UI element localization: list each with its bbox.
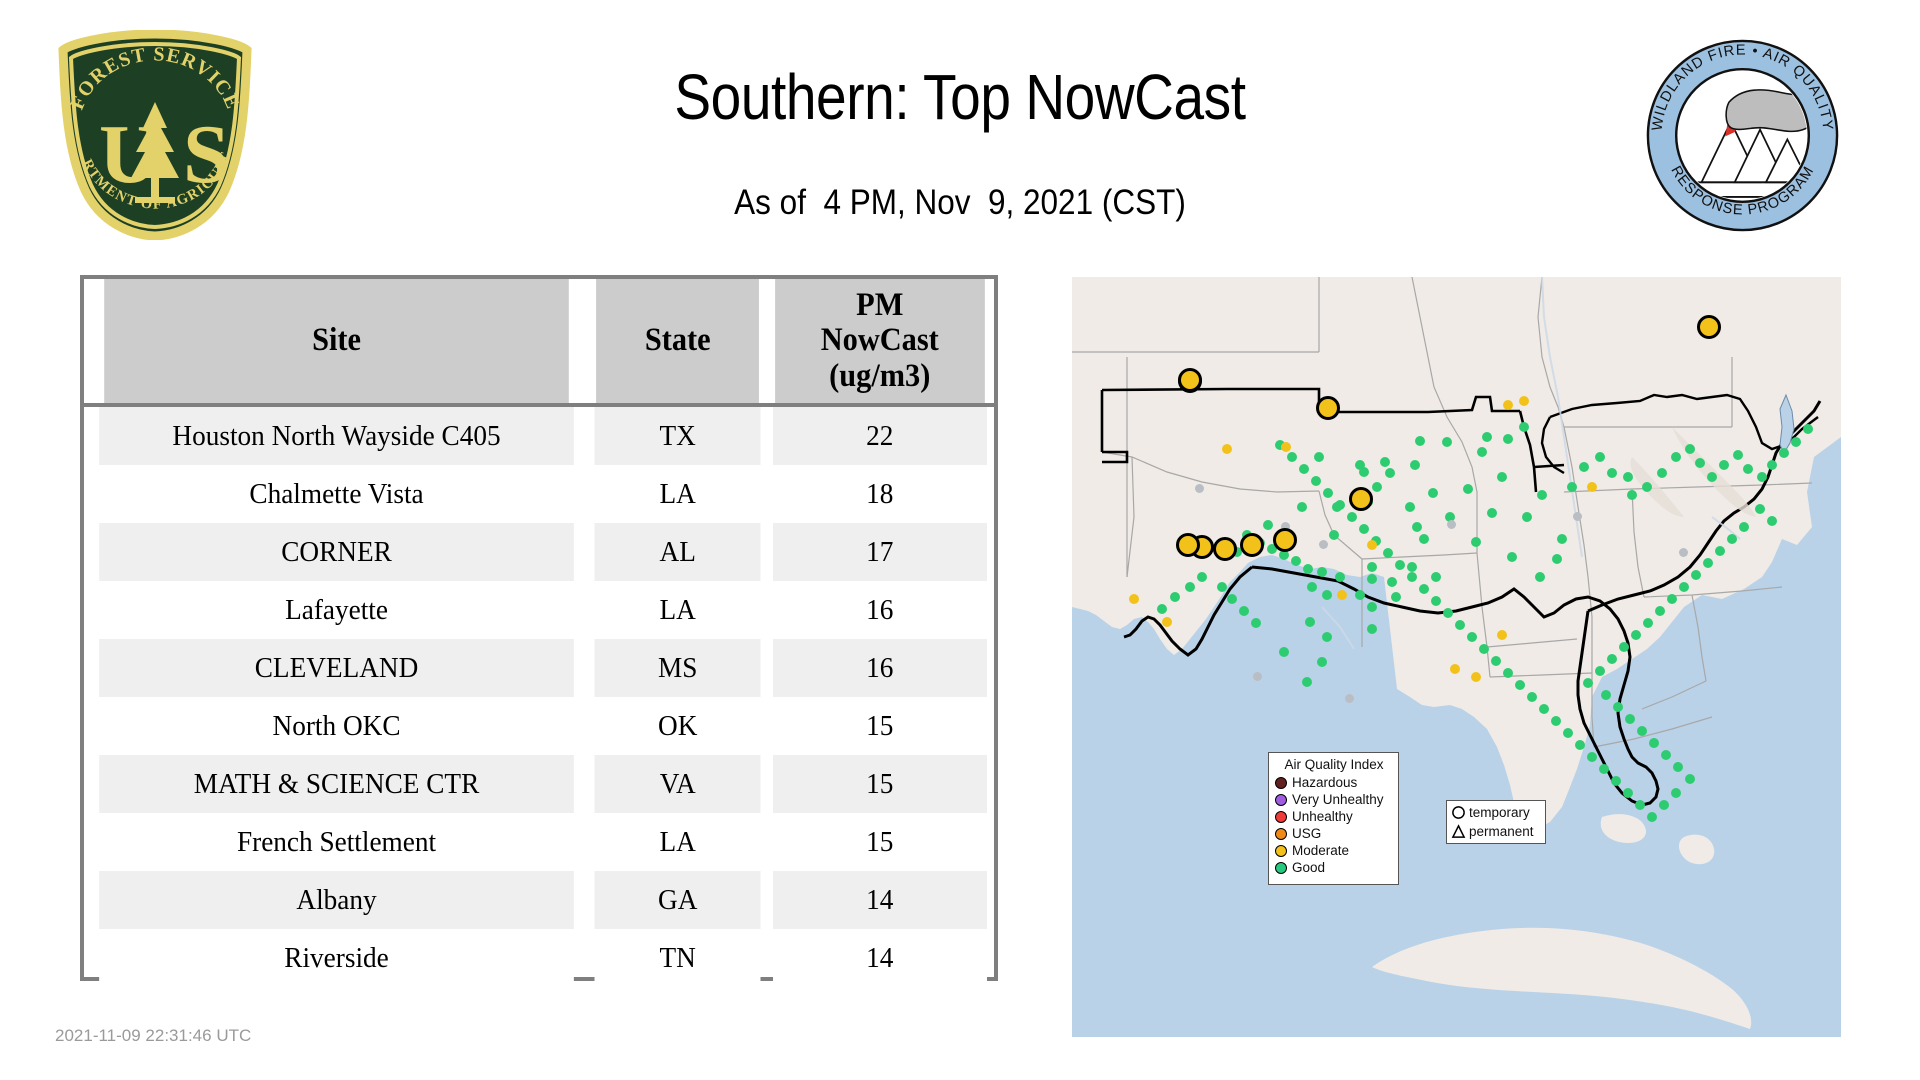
monitor-dot-good [1637,726,1647,736]
monitor-dot-good [1372,482,1382,492]
monitor-dot-good [1405,502,1415,512]
site-cell: Chalmette Vista [99,465,574,523]
monitor-dot-unavailable [1195,484,1204,493]
top-site-marker[interactable] [1240,533,1264,557]
monitor-dot-good [1719,460,1729,470]
monitor-dot-good [1367,562,1377,572]
aqi-legend-row: Moderate [1275,842,1393,859]
top-site-marker[interactable] [1176,533,1200,557]
monitor-dot-good [1642,482,1652,492]
monitor-dot-unavailable [1319,540,1328,549]
monitor-dot-good [1329,530,1339,540]
site-cell: Riverside [99,929,574,987]
monitor-dot-good [1279,647,1289,657]
monitor-dot-good [1322,632,1332,642]
monitor-dot-good [1623,788,1633,798]
pm-nowcast-cell: 14 [773,929,987,987]
monitor-dot-good [1595,666,1605,676]
state-cell: MS [594,639,761,697]
site-cell: MATH & SCIENCE CTR [99,755,574,813]
monitor-dot-good [1157,604,1167,614]
table-row[interactable]: French SettlementLA15 [84,813,994,871]
pm-nowcast-cell: 18 [773,465,987,523]
monitor-dot-moderate [1367,540,1377,550]
aqi-swatch-icon [1275,811,1287,823]
monitor-dot-moderate [1450,664,1460,674]
monitor-dot-moderate [1162,617,1172,627]
monitor-dot-good [1367,624,1377,634]
state-cell: LA [594,581,761,639]
monitor-dot-moderate [1503,400,1513,410]
monitor-dot-good [1552,554,1562,564]
monitor-dot-good [1442,437,1452,447]
monitor-dot-good [1419,584,1429,594]
monitor-dot-good [1428,488,1438,498]
monitor-dot-good [1707,472,1717,482]
table-body: Houston North Wayside C405TX22Chalmette … [84,405,994,987]
monitor-dot-good [1317,567,1327,577]
site-type-permanent-label: permanent [1469,824,1534,839]
monitor-dot-good [1599,764,1609,774]
monitor-dot-good [1227,594,1237,604]
monitor-dot-good [1479,644,1489,654]
monitor-dot-unavailable [1573,512,1582,521]
site-cell: CLEVELAND [99,639,574,697]
state-cell: LA [594,813,761,871]
site-cell: Albany [99,871,574,929]
monitor-dot-good [1431,572,1441,582]
monitor-dot-good [1695,458,1705,468]
monitor-dot-good [1359,524,1369,534]
site-cell: CORNER [99,523,574,581]
monitor-dot-good [1307,582,1317,592]
top-site-marker[interactable] [1178,368,1202,392]
monitor-dot-good [1503,434,1513,444]
monitor-dot-good [1703,558,1713,568]
monitor-dot-good [1685,774,1695,784]
pm-nowcast-cell: 15 [773,755,987,813]
monitor-dot-good [1643,618,1653,628]
aqi-legend-label: Unhealthy [1292,810,1353,824]
monitor-dot-good [1407,562,1417,572]
monitor-dot-good [1443,608,1453,618]
monitor-dot-good [1471,537,1481,547]
monitor-dot-good [1291,556,1301,566]
state-cell: LA [594,465,761,523]
pm-nowcast-cell: 22 [773,405,987,465]
monitor-dot-good [1482,432,1492,442]
monitor-dot-good [1755,504,1765,514]
monitor-dot-good [1715,546,1725,556]
monitor-dot-moderate [1129,594,1139,604]
monitor-dot-good [1661,750,1671,760]
monitor-dot-good [1611,776,1621,786]
monitor-dot-good [1263,520,1273,530]
monitor-dot-good [1302,677,1312,687]
monitor-dot-good [1322,590,1332,600]
site-cell: Lafayette [99,581,574,639]
monitor-dot-good [1659,800,1669,810]
monitor-dot-good [1679,582,1689,592]
monitor-dot-good [1314,452,1324,462]
column-header-site[interactable]: Site [104,279,569,405]
monitor-dot-good [1647,812,1657,822]
monitor-dot-good [1657,468,1667,478]
monitor-dot-good [1385,468,1395,478]
state-cell: AL [594,523,761,581]
monitor-dot-good [1507,552,1517,562]
monitor-dot-good [1727,534,1737,544]
monitor-dot-good [1733,450,1743,460]
pm-nowcast-cell: 17 [773,523,987,581]
monitor-dot-good [1380,457,1390,467]
monitor-dot-good [1431,596,1441,606]
pm-nowcast-cell: 15 [773,813,987,871]
column-header-pm-nowcast[interactable]: PM NowCast (ug/m3) [776,279,985,405]
monitor-dot-good [1463,484,1473,494]
aqi-swatch-icon [1275,862,1287,874]
air-quality-map[interactable] [1072,277,1841,1037]
monitor-dot-unavailable [1345,694,1354,703]
site-type-permanent-row: permanent [1451,822,1542,841]
state-cell: TX [594,405,761,465]
monitor-dot-moderate [1497,630,1507,640]
site-cell: North OKC [99,697,574,755]
monitor-dot-moderate [1471,672,1481,682]
monitor-dot-good [1655,606,1665,616]
monitor-dot-unavailable [1253,672,1262,681]
table-row[interactable]: Houston North Wayside C405TX22 [84,405,994,465]
aqi-legend-row: Unhealthy [1275,808,1393,825]
monitor-dot-good [1757,472,1767,482]
state-cell: TN [594,929,761,987]
monitor-dot-good [1410,460,1420,470]
circle-glyph [1451,805,1466,820]
aqi-swatch-icon [1275,777,1287,789]
monitor-dot-good [1579,462,1589,472]
monitor-dot-good [1311,476,1321,486]
monitor-dot-good [1537,490,1547,500]
top-site-marker[interactable] [1273,528,1297,552]
monitor-dot-moderate [1519,396,1529,406]
aqi-legend-label: USG [1292,827,1321,841]
monitor-dot-moderate [1587,482,1597,492]
aqi-legend-row: Very Unhealthy [1275,791,1393,808]
site-cell: French Settlement [99,813,574,871]
monitor-dot-good [1601,690,1611,700]
monitor-dot-good [1359,467,1369,477]
monitor-dot-good [1519,422,1529,432]
monitor-dot-good [1477,447,1487,457]
monitor-dot-good [1197,572,1207,582]
table-row[interactable]: MATH & SCIENCE CTRVA15 [84,755,994,813]
monitor-dot-good [1491,656,1501,666]
monitor-dot-good [1503,668,1513,678]
site-type-legend: temporary permanent [1446,800,1546,844]
aqi-legend: Air Quality Index HazardousVery Unhealth… [1268,752,1399,885]
monitor-dot-good [1607,654,1617,664]
table-row[interactable]: CLEVELANDMS16 [84,639,994,697]
column-header-pm-line1: PM [776,288,985,323]
site-type-temporary-label: temporary [1469,805,1530,820]
monitor-dot-good [1391,592,1401,602]
page-subtitle: As of 4 PM, Nov 9, 2021 (CST) [96,183,1824,223]
table-row[interactable]: RiversideTN14 [84,929,994,987]
monitor-dot-good [1779,448,1789,458]
monitor-dot-good [1619,642,1629,652]
site-type-temporary-row: temporary [1451,803,1542,822]
monitor-dot-good [1671,452,1681,462]
table-row[interactable]: LafayetteLA16 [84,581,994,639]
monitor-dot-good [1355,590,1365,600]
aqi-legend-row: Hazardous [1275,774,1393,791]
monitor-dot-good [1487,508,1497,518]
monitor-dot-good [1673,762,1683,772]
aqi-legend-label: Moderate [1292,844,1349,858]
monitor-dot-good [1767,460,1777,470]
monitor-dot-good [1691,570,1701,580]
monitor-dot-good [1287,452,1297,462]
monitor-dot-good [1467,632,1477,642]
table-row[interactable]: CORNERAL17 [84,523,994,581]
top-site-marker[interactable] [1697,315,1721,339]
monitor-dot-good [1305,617,1315,627]
pm-nowcast-cell: 15 [773,697,987,755]
monitor-dot-good [1743,464,1753,474]
monitor-dot-good [1297,502,1307,512]
triangle-glyph [1451,824,1466,839]
monitor-dot-good [1791,437,1801,447]
monitor-dot-good [1767,516,1777,526]
monitor-dot-good [1627,490,1637,500]
pm-nowcast-cell: 14 [773,871,987,929]
top-site-marker[interactable] [1213,537,1237,561]
aqi-swatch-icon [1275,828,1287,840]
monitor-dot-good [1412,522,1422,532]
monitor-dot-good [1251,618,1261,628]
table-row[interactable]: Chalmette VistaLA18 [84,465,994,523]
monitor-dot-good [1335,572,1345,582]
aqi-legend-title: Air Quality Index [1275,757,1393,772]
monitor-dot-good [1497,472,1507,482]
monitor-dot-good [1527,692,1537,702]
monitor-dot-good [1395,560,1405,570]
monitor-dot-good [1671,788,1681,798]
monitor-dot-moderate [1337,590,1347,600]
aqi-legend-row: USG [1275,825,1393,842]
nowcast-table-container: Site State PM NowCast (ug/m3) Houston No… [80,275,998,981]
monitor-dot-good [1583,678,1593,688]
site-cell: Houston North Wayside C405 [99,405,574,465]
monitor-dot-good [1739,522,1749,532]
monitor-dot-good [1239,606,1249,616]
monitor-dot-good [1299,464,1309,474]
monitor-dot-good [1613,702,1623,712]
monitor-dot-good [1170,592,1180,602]
nowcast-table: Site State PM NowCast (ug/m3) Houston No… [84,279,994,987]
monitor-dot-good [1539,704,1549,714]
monitor-dot-good [1667,594,1677,604]
monitor-dot-good [1335,500,1345,510]
aqi-legend-label: Good [1292,861,1325,875]
table-header-row: Site State PM NowCast (ug/m3) [84,279,994,405]
table-row[interactable]: North OKCOK15 [84,697,994,755]
monitor-dot-good [1567,482,1577,492]
aqi-legend-label: Hazardous [1292,776,1357,790]
monitor-dot-good [1522,512,1532,522]
monitor-dot-good [1625,714,1635,724]
column-header-state[interactable]: State [596,279,759,405]
pm-nowcast-cell: 16 [773,639,987,697]
monitor-dot-good [1685,444,1695,454]
table-row[interactable]: AlbanyGA14 [84,871,994,929]
column-header-pm-line2: NowCast [776,323,985,358]
state-cell: OK [594,697,761,755]
monitor-dot-good [1631,630,1641,640]
state-cell: VA [594,755,761,813]
column-header-pm-line3: (ug/m3) [776,359,985,394]
monitor-dot-good [1635,800,1645,810]
monitor-dot-good [1551,716,1561,726]
pm-nowcast-cell: 16 [773,581,987,639]
monitor-dot-good [1575,740,1585,750]
monitor-dot-good [1587,752,1597,762]
monitor-dot-good [1387,577,1397,587]
monitor-dot-good [1323,488,1333,498]
aqi-legend-row: Good [1275,859,1393,876]
monitor-dot-good [1535,572,1545,582]
monitor-dot-good [1455,620,1465,630]
top-site-marker[interactable] [1316,396,1340,420]
monitor-dot-good [1595,452,1605,462]
monitor-dot-good [1367,574,1377,584]
monitor-dot-moderate [1281,442,1291,452]
monitor-dot-unavailable [1447,520,1456,529]
state-cell: GA [594,871,761,929]
monitor-dot-good [1407,572,1417,582]
monitor-dot-good [1367,602,1377,612]
monitor-dot-unavailable [1679,548,1688,557]
monitor-dot-good [1649,738,1659,748]
timestamp-label: 2021-11-09 22:31:46 UTC [55,1026,251,1046]
monitor-dot-good [1563,728,1573,738]
monitor-dot-good [1415,436,1425,446]
monitor-dot-good [1607,468,1617,478]
monitor-dot-good [1383,548,1393,558]
monitor-dot-good [1185,582,1195,592]
page-title: Southern: Top NowCast [134,60,1785,134]
monitor-dot-good [1557,534,1567,544]
aqi-swatch-icon [1275,794,1287,806]
monitor-dot-good [1419,534,1429,544]
top-site-marker[interactable] [1349,487,1373,511]
monitor-dot-good [1217,582,1227,592]
monitor-dot-good [1347,512,1357,522]
monitor-dot-good [1317,657,1327,667]
monitor-dot-good [1803,424,1813,434]
aqi-swatch-icon [1275,845,1287,857]
monitor-dot-moderate [1222,444,1232,454]
monitor-dot-good [1623,472,1633,482]
monitor-dot-good [1303,564,1313,574]
aqi-legend-label: Very Unhealthy [1292,793,1384,807]
monitor-dot-good [1515,680,1525,690]
